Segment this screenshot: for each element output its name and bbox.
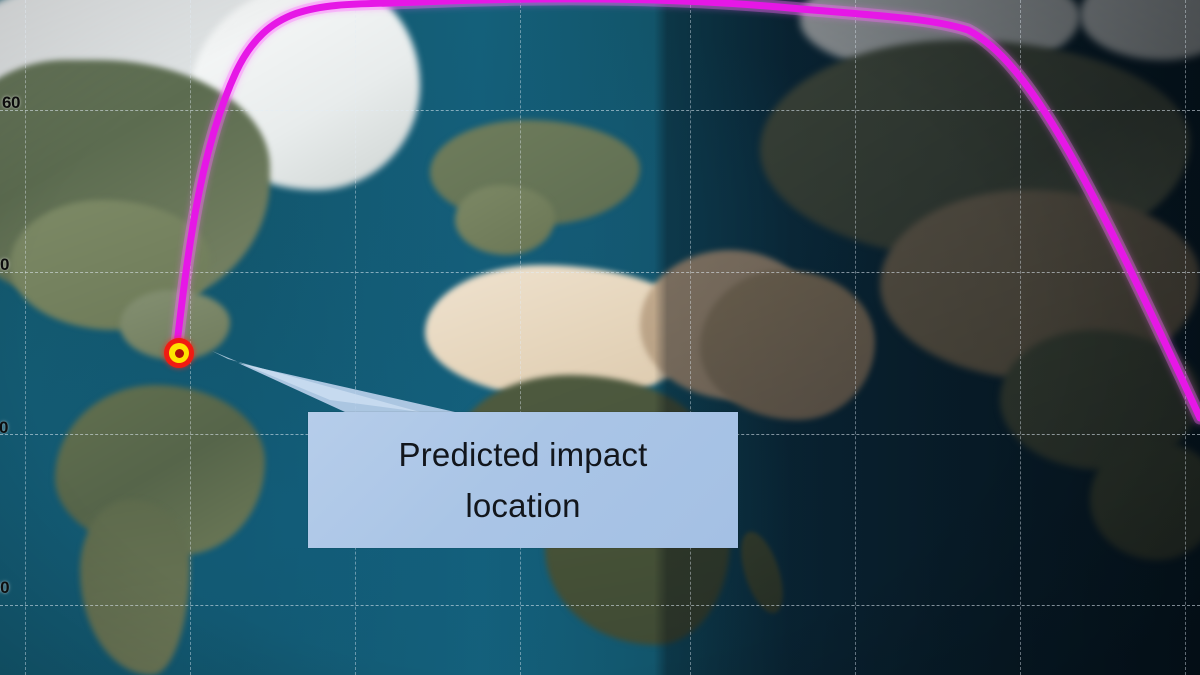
callout-line-2: location	[465, 480, 580, 531]
impact-marker-core-dot	[175, 349, 184, 358]
trajectory-glow	[176, 0, 1200, 418]
callout-line-1: Predicted impact	[399, 429, 648, 480]
trajectory-path	[176, 0, 1200, 418]
impact-marker[interactable]	[164, 338, 194, 368]
predicted-impact-callout[interactable]: Predicted impact location	[308, 412, 738, 548]
satellite-map-viewport: 60 30 0 -30 Predicted impact location	[0, 0, 1200, 675]
